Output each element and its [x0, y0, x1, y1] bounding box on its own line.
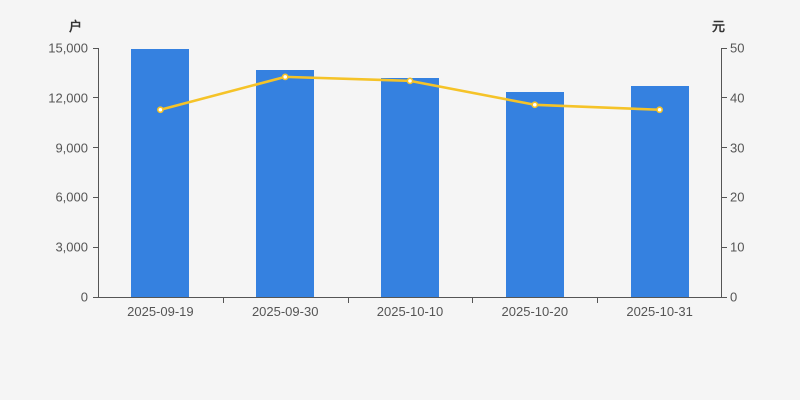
- right-axis-unit-label: 元: [712, 16, 725, 35]
- x-tick-mark: [223, 298, 224, 303]
- left-tick-mark: [93, 147, 98, 148]
- right-tick-mark: [722, 297, 727, 298]
- right-tick-mark: [722, 97, 727, 98]
- right-tick-label: 20: [730, 190, 744, 205]
- left-tick-label: 0: [81, 290, 88, 305]
- x-axis-line: [98, 297, 722, 298]
- x-tick-label: 2025-09-19: [127, 304, 194, 319]
- left-tick-label: 15,000: [48, 41, 88, 56]
- bar[interactable]: [131, 49, 189, 297]
- left-tick-mark: [93, 48, 98, 49]
- x-tick-mark: [597, 298, 598, 303]
- right-axis-line: [721, 48, 722, 297]
- bar[interactable]: [256, 70, 314, 297]
- left-tick-mark: [93, 197, 98, 198]
- right-tick-mark: [722, 247, 727, 248]
- right-tick-label: 30: [730, 140, 744, 155]
- x-tick-label: 2025-10-20: [502, 304, 569, 319]
- left-tick-mark: [93, 297, 98, 298]
- x-tick-mark: [472, 298, 473, 303]
- x-tick-label: 2025-10-10: [377, 304, 444, 319]
- right-tick-label: 40: [730, 90, 744, 105]
- left-tick-label: 6,000: [55, 190, 88, 205]
- left-axis-unit-label: 户: [69, 16, 82, 35]
- x-tick-label: 2025-09-30: [252, 304, 319, 319]
- bar[interactable]: [381, 78, 439, 297]
- right-tick-label: 0: [730, 290, 737, 305]
- right-tick-mark: [722, 197, 727, 198]
- left-tick-mark: [93, 97, 98, 98]
- bar[interactable]: [631, 86, 689, 297]
- right-tick-label: 10: [730, 240, 744, 255]
- left-tick-mark: [93, 247, 98, 248]
- x-tick-label: 2025-10-31: [626, 304, 693, 319]
- right-tick-mark: [722, 147, 727, 148]
- left-axis-line: [98, 48, 99, 297]
- chart-container: 户 元 03,0006,0009,00012,00015,000 0102030…: [0, 0, 800, 400]
- right-tick-label: 50: [730, 41, 744, 56]
- left-tick-label: 12,000: [48, 90, 88, 105]
- left-tick-label: 3,000: [55, 240, 88, 255]
- right-tick-mark: [722, 48, 727, 49]
- bar[interactable]: [506, 92, 564, 297]
- x-tick-mark: [348, 298, 349, 303]
- left-tick-label: 9,000: [55, 140, 88, 155]
